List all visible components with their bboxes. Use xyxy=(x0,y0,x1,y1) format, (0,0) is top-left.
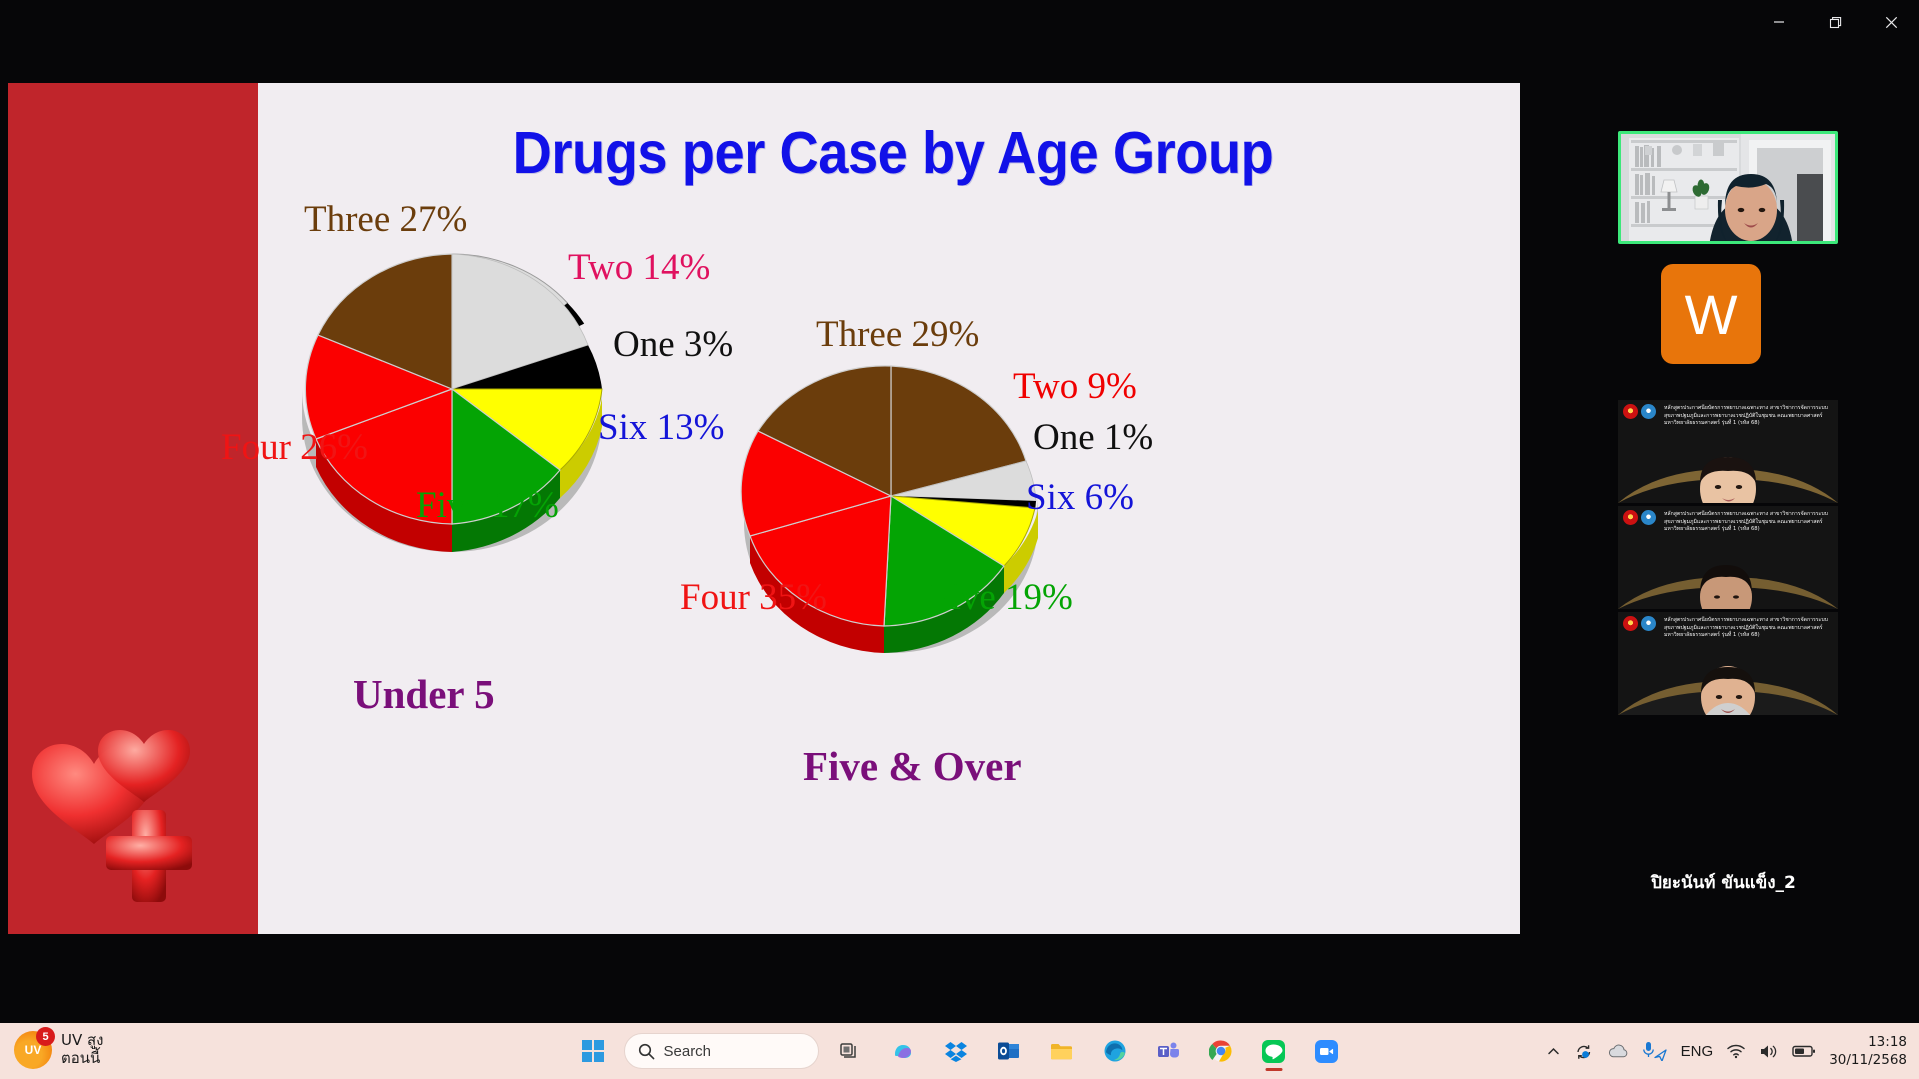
uv-text: UV สูง ตอนนี้ xyxy=(61,1032,104,1067)
line-icon xyxy=(1261,1039,1286,1064)
edge-icon xyxy=(1103,1039,1127,1063)
edge-button[interactable] xyxy=(1093,1029,1137,1073)
battery-icon xyxy=(1792,1044,1816,1058)
search-placeholder: Search xyxy=(664,1043,712,1060)
speaker-video-frame xyxy=(1621,134,1838,244)
organization-logo-blue-icon xyxy=(1641,404,1656,419)
search-icon xyxy=(638,1043,655,1060)
microphone-icon xyxy=(1642,1041,1668,1061)
active-participant-name: ปิยะนันท์ ขันแข็ง_2 xyxy=(1528,869,1919,896)
heart-cross-decoration xyxy=(24,722,244,912)
language-indicator[interactable]: ENG xyxy=(1681,1043,1714,1060)
window-controls xyxy=(1751,0,1919,44)
clock[interactable]: 13:18 30/11/2568 xyxy=(1829,1033,1907,1069)
organization-logo-red-icon xyxy=(1623,404,1638,419)
organization-logo-red-icon xyxy=(1623,510,1638,525)
video-sidebar: W หลักสูตรประกาศนียบัตรการพยาบาลเฉพาะทาง… xyxy=(1528,83,1919,934)
chrome-button[interactable] xyxy=(1199,1029,1243,1073)
task-view-button[interactable] xyxy=(828,1029,872,1073)
file-explorer-button[interactable] xyxy=(1040,1029,1084,1073)
system-tray: ENG xyxy=(1546,1033,1907,1069)
pie1-label-three: Three 27% xyxy=(304,201,467,238)
dropbox-icon xyxy=(944,1039,968,1063)
microphone-button[interactable] xyxy=(1642,1041,1668,1061)
line-button[interactable] xyxy=(1252,1029,1296,1073)
organization-logo-red-icon xyxy=(1623,616,1638,631)
cloud-icon xyxy=(1607,1043,1629,1059)
caption-five-and-over: Five & Over xyxy=(803,742,1022,790)
uv-line-2: ตอนนี้ xyxy=(61,1050,104,1068)
chevron-up-icon xyxy=(1546,1044,1561,1059)
copilot-icon xyxy=(891,1039,915,1063)
speaker-icon xyxy=(1759,1043,1779,1060)
participant-tile-2[interactable]: หลักสูตรประกาศนียบัตรการพยาบาลเฉพาะทาง ส… xyxy=(1618,506,1838,609)
pie1-label-five: Five 17% xyxy=(416,487,559,524)
uv-index-icon: UV 5 xyxy=(14,1031,52,1069)
active-speaker-tile[interactable] xyxy=(1618,131,1838,244)
clock-date: 30/11/2568 xyxy=(1829,1051,1907,1069)
wifi-button[interactable] xyxy=(1726,1043,1746,1059)
task-view-icon xyxy=(839,1040,861,1062)
participant-tile-3[interactable]: หลักสูตรประกาศนียบัตรการพยาบาลเฉพาะทาง ส… xyxy=(1618,612,1838,715)
pie2-label-two: Two 9% xyxy=(1013,368,1137,405)
pie2-label-five: Five 19% xyxy=(930,579,1073,616)
restore-button[interactable] xyxy=(1807,0,1863,44)
slide-content: Drugs per Case by Age Group xyxy=(258,83,1520,934)
uv-abbr: UV xyxy=(25,1043,42,1057)
close-button[interactable] xyxy=(1863,0,1919,44)
folder-icon xyxy=(1049,1039,1074,1064)
pie2-label-four: Four 35% xyxy=(680,579,827,616)
start-button[interactable] xyxy=(571,1029,615,1073)
participant-tile-1[interactable]: หลักสูตรประกาศนียบัตรการพยาบาลเฉพาะทาง ส… xyxy=(1618,400,1838,503)
outlook-button[interactable] xyxy=(987,1029,1031,1073)
pie1-label-six: Six 13% xyxy=(598,409,724,446)
zoom-icon xyxy=(1314,1039,1339,1064)
wifi-icon xyxy=(1726,1043,1746,1059)
participant-tile-2-overlay: หลักสูตรประกาศนียบัตรการพยาบาลเฉพาะทาง ส… xyxy=(1664,511,1835,534)
pie1-label-one: One 3% xyxy=(613,326,733,363)
organization-logo-blue-icon xyxy=(1641,616,1656,631)
pie1-label-four: Four 26% xyxy=(221,429,368,466)
shared-slide[interactable]: Drugs per Case by Age Group xyxy=(8,83,1520,934)
onedrive-cloud-button[interactable] xyxy=(1607,1043,1629,1059)
teams-icon xyxy=(1156,1039,1180,1063)
copilot-button[interactable] xyxy=(881,1029,925,1073)
avatar-letter: W xyxy=(1685,282,1738,347)
pie2-label-six: Six 6% xyxy=(1026,479,1134,516)
zoom-button[interactable] xyxy=(1305,1029,1349,1073)
outlook-icon xyxy=(997,1039,1021,1063)
windows-logo-icon xyxy=(582,1040,604,1062)
caption-under-5: Under 5 xyxy=(353,670,495,718)
dropbox-button[interactable] xyxy=(934,1029,978,1073)
participant-tile-3-overlay: หลักสูตรประกาศนียบัตรการพยาบาลเฉพาะทาง ส… xyxy=(1664,617,1835,640)
uv-line-1: UV สูง xyxy=(61,1032,104,1050)
organization-logo-blue-icon xyxy=(1641,510,1656,525)
uv-weather-widget[interactable]: UV 5 UV สูง ตอนนี้ xyxy=(14,1031,104,1069)
volume-button[interactable] xyxy=(1759,1043,1779,1060)
taskbar-center: Search xyxy=(571,1029,1349,1073)
battery-button[interactable] xyxy=(1792,1044,1816,1058)
slide-title: Drugs per Case by Age Group xyxy=(419,119,1367,187)
chrome-icon xyxy=(1209,1039,1233,1063)
uv-badge: 5 xyxy=(36,1027,55,1046)
pie2-label-one: One 1% xyxy=(1033,419,1153,456)
minimize-button[interactable] xyxy=(1751,0,1807,44)
pie1-label-two: Two 14% xyxy=(568,249,710,286)
participant-3-video xyxy=(1618,651,1838,715)
screen: Drugs per Case by Age Group xyxy=(0,0,1919,1079)
clock-time: 13:18 xyxy=(1829,1033,1907,1051)
pie-chart-under-5 xyxy=(292,239,632,579)
participant-1-video xyxy=(1618,439,1838,503)
teams-button[interactable] xyxy=(1146,1029,1190,1073)
sync-icon xyxy=(1574,1042,1594,1061)
pie2-label-three: Three 29% xyxy=(816,316,979,353)
show-hidden-icons-button[interactable] xyxy=(1546,1044,1561,1059)
participant-2-video xyxy=(1618,545,1838,609)
participant-tile-1-overlay: หลักสูตรประกาศนียบัตรการพยาบาลเฉพาะทาง ส… xyxy=(1664,405,1835,428)
search-box[interactable]: Search xyxy=(624,1033,819,1069)
taskbar: UV 5 UV สูง ตอนนี้ xyxy=(0,1023,1919,1079)
participant-avatar-tile[interactable]: W xyxy=(1661,264,1761,364)
onedrive-sync-button[interactable] xyxy=(1574,1042,1594,1061)
